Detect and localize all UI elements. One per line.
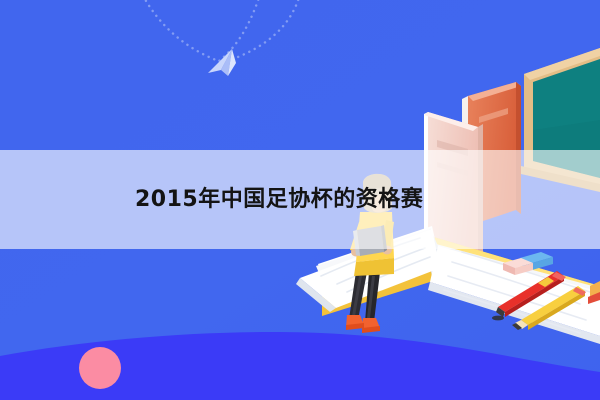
pink-circle-decoration [79,347,121,389]
banner-illustration [0,0,600,400]
banner-graphic: 2015年中国足协杯的资格赛 [0,0,600,400]
